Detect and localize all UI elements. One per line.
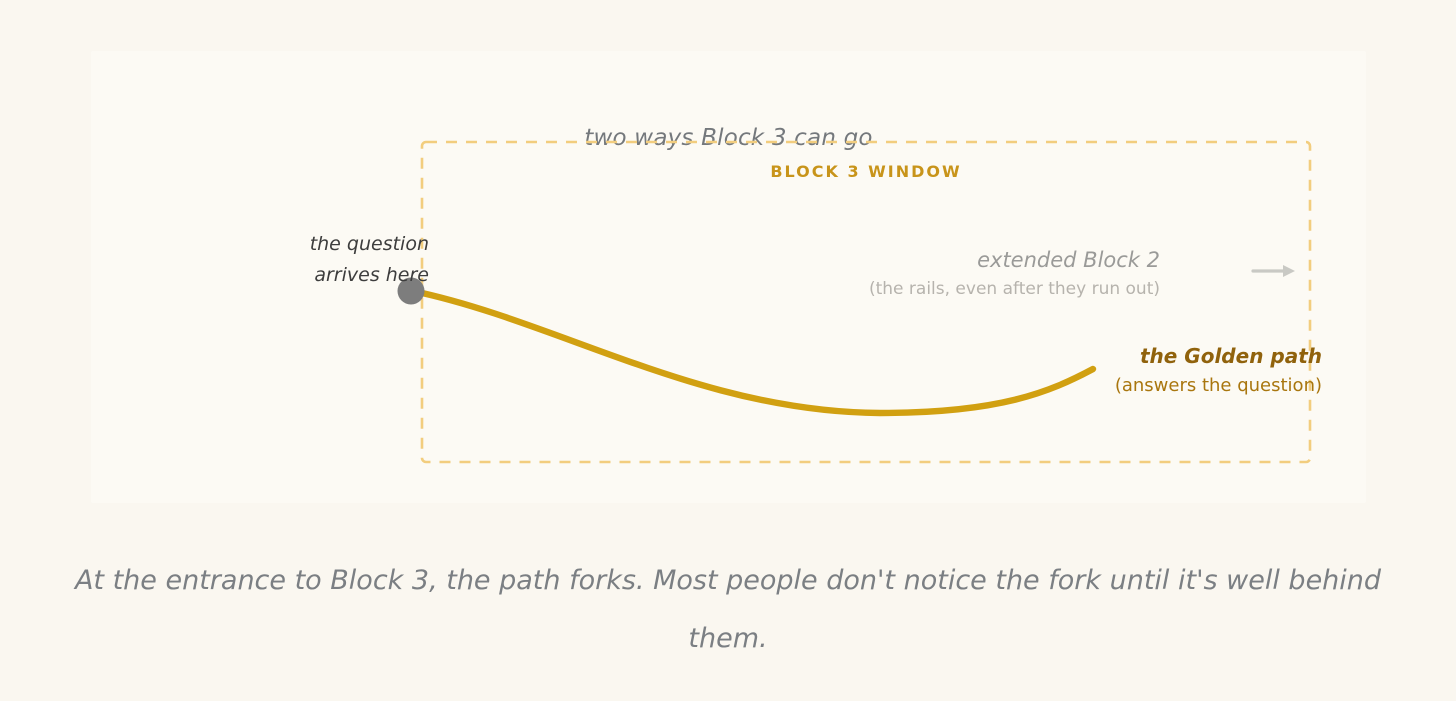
figure-caption: At the entrance to Block 3, the path for…	[40, 552, 1416, 668]
rails-arrow-icon	[1253, 265, 1295, 277]
figure-stage: two ways Block 3 can go BLOCK 3 WINDOW t…	[0, 0, 1456, 701]
golden-path-title: the Golden path	[862, 342, 1322, 370]
extended-block-2-label: extended Block 2 (the rails, even after …	[700, 246, 1160, 304]
extended-block-2-title: extended Block 2	[700, 246, 1160, 274]
entry-node-label: the question arrives here	[229, 229, 429, 291]
extended-block-2-subtitle: (the rails, even after they run out)	[700, 274, 1160, 304]
entry-node-label-line2: arrives here	[229, 260, 429, 291]
block-3-window-label: BLOCK 3 WINDOW	[422, 162, 1310, 181]
golden-path-label: the Golden path (answers the question)	[862, 342, 1322, 402]
entry-node-label-line1: the question	[229, 229, 429, 260]
golden-path-subtitle: (answers the question)	[862, 370, 1322, 402]
